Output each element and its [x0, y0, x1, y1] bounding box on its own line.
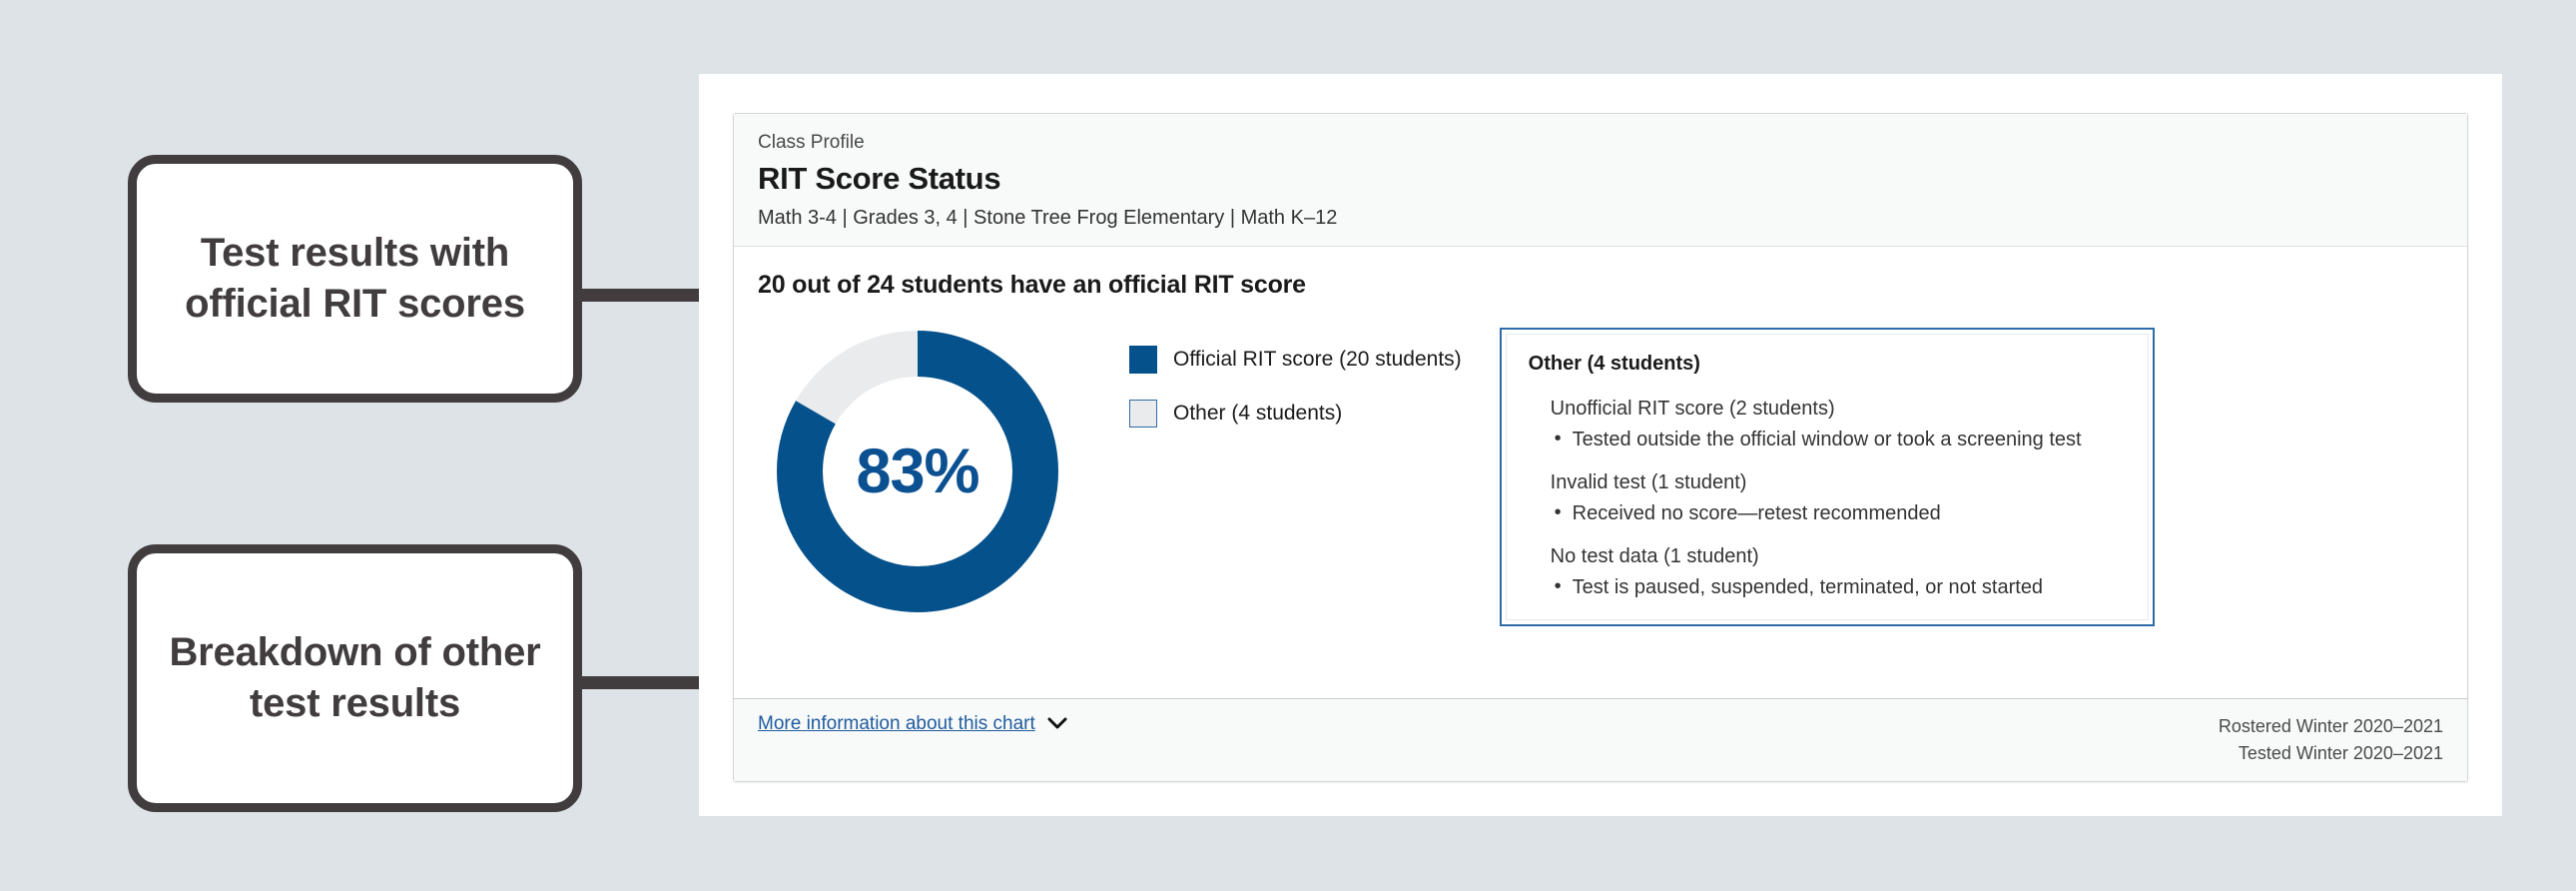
other-group-bullet: Received no score—retest recommended	[1529, 502, 2126, 525]
other-group-unofficial: Unofficial RIT score (2 students) Tested…	[1529, 398, 2126, 451]
report-timestamps: Rostered Winter 2020–2021 Tested Winter …	[2219, 713, 2443, 767]
card-body: 20 out of 24 students have an official R…	[734, 247, 2467, 698]
other-group-heading: Invalid test (1 student)	[1529, 471, 2126, 494]
card-eyebrow: Class Profile	[758, 132, 2443, 154]
other-breakdown-inner: Other (4 students) Unofficial RIT score …	[1506, 334, 2149, 620]
other-group-bullet: Test is paused, suspended, terminated, o…	[1529, 576, 2126, 599]
chevron-down-icon[interactable]	[1047, 716, 1067, 733]
card-subtitle: Math 3-4 | Grades 3, 4 | Stone Tree Frog…	[758, 207, 2443, 230]
legend-item-other: Other (4 students)	[1129, 400, 1462, 428]
other-group-bullet: Tested outside the official window or to…	[1529, 429, 2126, 451]
legend-item-official: Official RIT score (20 students)	[1129, 346, 1462, 374]
rit-score-donut-chart: 83%	[768, 322, 1067, 621]
other-group-invalid: Invalid test (1 student) Received no sco…	[1529, 471, 2126, 525]
chevron-down-glyph	[1047, 717, 1067, 730]
more-information-toggle[interactable]: More information about this chart	[758, 713, 1067, 735]
other-group-no-test-data: No test data (1 student) Test is paused,…	[1529, 545, 2126, 599]
card-header: Class Profile RIT Score Status Math 3-4 …	[734, 114, 2467, 247]
legend-swatch-other-icon	[1129, 400, 1157, 428]
rit-score-status-card: Class Profile RIT Score Status Math 3-4 …	[733, 113, 2468, 782]
rostered-term: Rostered Winter 2020–2021	[2219, 713, 2443, 740]
chart-row: 83% Official RIT score (20 students) Oth…	[758, 322, 2443, 626]
card-footer: More information about this chart Roster…	[734, 698, 2467, 781]
legend-label-other: Other (4 students)	[1173, 402, 1342, 426]
donut-center-percentage: 83%	[768, 436, 1067, 507]
screenshot-root: Test results with official RIT scores Br…	[0, 0, 2576, 891]
other-group-heading: No test data (1 student)	[1529, 545, 2126, 568]
other-group-heading: Unofficial RIT score (2 students)	[1529, 398, 2126, 421]
annotation-callout-other-breakdown: Breakdown of other test results	[128, 544, 582, 812]
annotation-callout-1-text: Test results with official RIT scores	[137, 228, 573, 330]
legend-swatch-official-icon	[1129, 346, 1157, 374]
chart-headline: 20 out of 24 students have an official R…	[758, 271, 2443, 300]
annotation-callout-2-text: Breakdown of other test results	[137, 627, 573, 729]
tested-term: Tested Winter 2020–2021	[2219, 740, 2443, 767]
chart-legend: Official RIT score (20 students) Other (…	[1129, 346, 1462, 453]
other-breakdown-box: Other (4 students) Unofficial RIT score …	[1500, 328, 2155, 626]
legend-label-official: Official RIT score (20 students)	[1173, 348, 1462, 372]
more-information-link[interactable]: More information about this chart	[758, 713, 1035, 735]
report-page-panel: Class Profile RIT Score Status Math 3-4 …	[699, 74, 2502, 816]
annotation-callout-test-results: Test results with official RIT scores	[128, 155, 582, 403]
other-breakdown-title: Other (4 students)	[1529, 353, 2126, 376]
page-title: RIT Score Status	[758, 161, 2443, 197]
